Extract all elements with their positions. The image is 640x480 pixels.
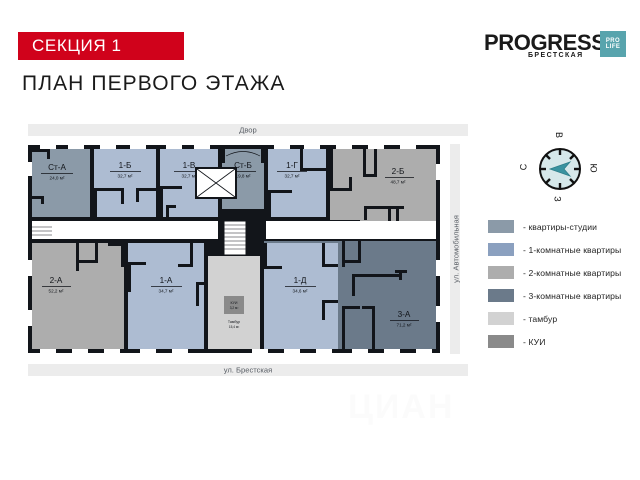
compass-label-west: З <box>553 196 563 201</box>
compass-label-north: С <box>518 164 528 171</box>
apartment-1-v-label: 1-В <box>183 161 196 170</box>
apartment-1-a[interactable]: 1-А 34,7 м² <box>128 243 204 349</box>
legend: - квартиры-студии - 1-комнатные квартиры… <box>488 215 638 353</box>
room-kui[interactable]: КУИ 3,2 м² <box>224 296 244 314</box>
apartment-3-a-label: 3-А <box>398 310 411 319</box>
legend-label-three-room: - 3-комнатные квартиры <box>523 291 621 301</box>
legend-label-one-room: - 1-комнатные квартиры <box>523 245 621 255</box>
building-outline: Ст-А 24,0 м² 1-Б 32,7 м² 1-В 32,7 <box>28 145 440 353</box>
brand-logo: PROGRESS БРЕСТСКАЯ PRO LIFE <box>484 30 624 64</box>
apartment-1-d-label-2: 1-Д <box>294 276 307 285</box>
room-kui-label: КУИ <box>231 301 238 305</box>
compass-rose: С В Ю З <box>523 132 597 206</box>
apartment-st-b-area: 19,8 м² <box>236 174 251 179</box>
logo-badge: PRO LIFE <box>600 31 626 57</box>
apartment-2-b-label: 2-Б <box>392 167 405 176</box>
logo-badge-line2: LIFE <box>606 44 621 50</box>
room-kui-fill <box>224 296 244 314</box>
apartment-1-a-area: 34,7 м² <box>159 289 174 294</box>
street-label-bottom: ул. Брестская <box>224 366 273 375</box>
apartment-2-a-area: 52,2 м² <box>49 289 64 294</box>
compass-label-east: В <box>554 132 564 138</box>
staircase-west <box>32 223 52 239</box>
legend-item-kui: - КУИ <box>488 330 638 353</box>
apartment-1-b-label: 1-Б <box>119 161 132 170</box>
page-title: ПЛАН ПЕРВОГО ЭТАЖА <box>22 72 285 96</box>
apartment-1-b[interactable]: 1-Б 32,7 м² <box>94 149 156 217</box>
apartment-2-b-area: 48,7 м² <box>391 180 406 185</box>
corridor-west <box>32 221 218 239</box>
elevator-shaft <box>196 168 236 198</box>
compass-label-south: Ю <box>589 163 599 172</box>
apartment-st-a[interactable]: Ст-А 24,0 м² <box>32 149 90 217</box>
room-kui-area: 3,2 м² <box>230 306 239 310</box>
legend-label-studio: - квартиры-студии <box>523 222 597 232</box>
apartment-1-b-fill <box>94 149 156 217</box>
apartment-st-a-label: Ст-А <box>48 163 66 172</box>
apartment-3-a-area: 71,2 м² <box>397 323 412 328</box>
legend-label-tambour: - тамбур <box>523 314 557 324</box>
apartment-1-g[interactable]: 1-Г 32,7 м² <box>268 149 326 217</box>
legend-item-three-room: - 3-комнатные квартиры <box>488 284 638 307</box>
legend-item-tambour: - тамбур <box>488 307 638 330</box>
street-label-top: Двор <box>239 126 257 135</box>
apartment-1-v-area: 32,7 м² <box>182 174 197 179</box>
apartment-1-g-fill <box>268 149 326 217</box>
legend-label-two-room: - 2-комнатные квартиры <box>523 268 621 278</box>
apartment-1-g-label: 1-Г <box>286 161 298 170</box>
legend-swatch-tambour <box>488 312 514 325</box>
legend-item-two-room: - 2-комнатные квартиры <box>488 261 638 284</box>
legend-swatch-studio <box>488 220 514 233</box>
legend-swatch-three-room <box>488 289 514 302</box>
logo-subtitle: БРЕСТСКАЯ <box>528 52 584 59</box>
apartment-st-a-area: 24,0 м² <box>50 176 65 181</box>
compass-svg <box>523 132 597 206</box>
legend-swatch-two-room <box>488 266 514 279</box>
legend-swatch-kui <box>488 335 514 348</box>
section-badge: СЕКЦИЯ 1 <box>18 32 184 60</box>
apartment-2-a[interactable]: 2-А 52,2 м² <box>32 243 124 349</box>
apartment-st-a-nook <box>32 201 58 217</box>
legend-label-kui: - КУИ <box>523 337 546 347</box>
legend-item-studio: - квартиры-студии <box>488 215 638 238</box>
apartment-1-d-area-2: 34,6 м² <box>293 289 308 294</box>
room-tambour-label: Тамбур <box>228 320 240 324</box>
apartment-1-b-area: 32,7 м² <box>118 174 133 179</box>
legend-swatch-one-room <box>488 243 514 256</box>
street-label-right: ул. Автомобильная <box>452 215 461 283</box>
legend-item-one-room: - 1-комнатные квартиры <box>488 238 638 261</box>
apartment-1-a-label: 1-А <box>160 276 173 285</box>
room-tambour-area: 15,4 м² <box>229 325 239 329</box>
apartment-1-g-area: 32,7 м² <box>285 174 300 179</box>
page-header: СЕКЦИЯ 1 ПЛАН ПЕРВОГО ЭТАЖА PROGRESS БРЕ… <box>0 0 640 110</box>
watermark: ЦИАН <box>348 388 538 428</box>
apartment-3-a[interactable]: 1-Д 34,6 м² 3-А 71,2 м² <box>264 241 436 349</box>
apartment-2-a-label: 2-А <box>50 276 63 285</box>
staircase-upper <box>224 221 246 255</box>
